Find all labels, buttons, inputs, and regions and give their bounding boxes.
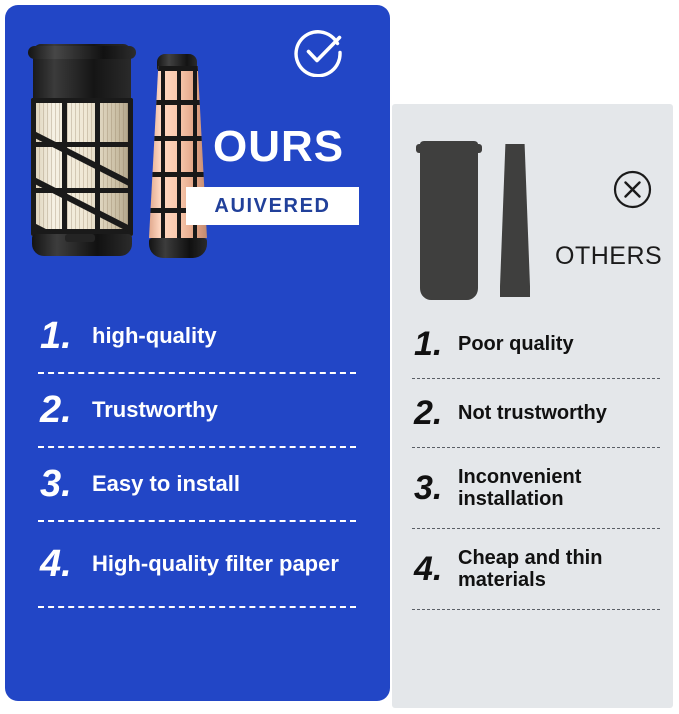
list-item-number: 3.: [40, 465, 92, 503]
list-item: 3. Easy to install: [38, 448, 356, 520]
list-item-label: high-quality: [92, 324, 217, 349]
list-item-number: 2.: [414, 396, 458, 430]
ours-filter-large: [31, 44, 133, 256]
filter-cap-lip: [28, 46, 136, 59]
others-title: OTHERS: [555, 242, 662, 271]
list-item-number: 4.: [414, 552, 458, 586]
list-item: 2. Not trustworthy: [412, 379, 660, 447]
list-item-number: 4.: [40, 545, 92, 583]
list-item-label: Easy to install: [92, 472, 240, 497]
list-item-number: 3.: [414, 471, 458, 505]
filter-media-body: [31, 98, 133, 236]
others-filter-large-silhouette: [420, 141, 478, 298]
list-item-label: High-quality filter paper: [92, 552, 339, 577]
ours-feature-list: 1. high-quality 2. Trustworthy 3. Easy t…: [38, 300, 356, 608]
list-item: 3. Inconvenient installation: [412, 448, 660, 528]
list-item-label: Trustworthy: [92, 398, 218, 423]
list-item: 1. Poor quality: [412, 310, 660, 378]
list-item-label: Poor quality: [458, 333, 574, 355]
list-item-label: Not trustworthy: [458, 402, 607, 424]
ours-title: OURS: [213, 122, 344, 172]
list-item-label: Inconvenient installation: [458, 466, 660, 511]
others-feature-list: 1. Poor quality 2. Not trustworthy 3. In…: [412, 310, 660, 610]
check-circle-icon: [293, 25, 345, 77]
list-item-number: 1.: [40, 317, 92, 355]
list-item: 2. Trustworthy: [38, 374, 356, 446]
list-item: 4. Cheap and thin materials: [412, 529, 660, 609]
list-item-number: 2.: [40, 391, 92, 429]
list-divider: [412, 609, 660, 610]
filter-base: [149, 238, 207, 258]
list-item-number: 1.: [414, 327, 458, 361]
list-item-label: Cheap and thin materials: [458, 547, 660, 592]
others-product-image: [420, 136, 570, 298]
ours-filter-small: [149, 54, 207, 258]
comparison-infographic: OTHERS 1. Poor quality 2. Not trustworth…: [0, 0, 679, 714]
list-item: 1. high-quality: [38, 300, 356, 372]
x-circle-icon: [612, 169, 653, 210]
ours-product-image: [27, 38, 207, 260]
others-filter-small-silhouette: [500, 144, 530, 297]
brand-badge: AUIVERED: [186, 187, 359, 225]
list-item: 4. High-quality filter paper: [38, 522, 356, 606]
list-divider: [38, 606, 356, 608]
filter-base-nub: [65, 234, 95, 242]
brand-name: AUIVERED: [214, 195, 330, 218]
